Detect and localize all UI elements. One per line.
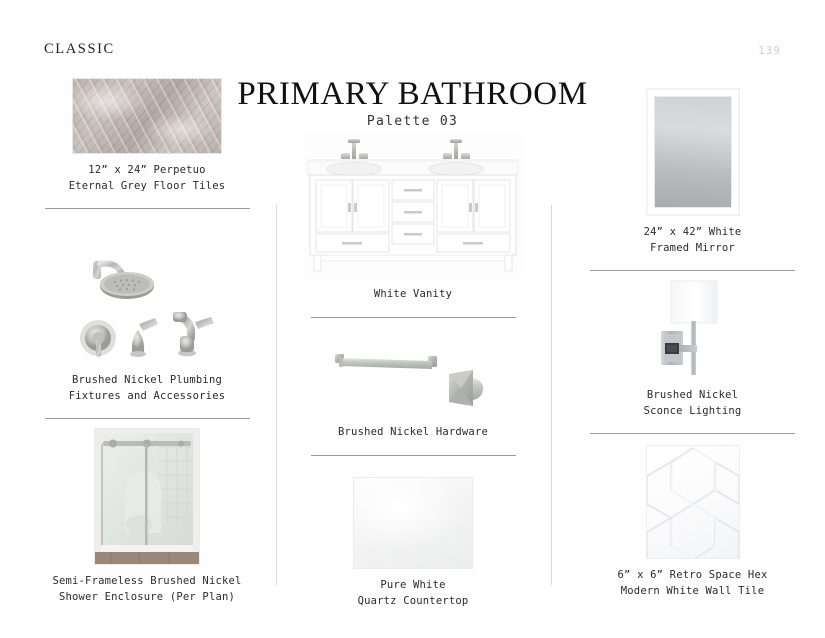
section-divider (311, 455, 516, 456)
hex-wall-tile-swatch (646, 445, 740, 559)
plumbing-fixtures-photo (67, 252, 227, 364)
shower-enclosure-photo (94, 428, 200, 565)
section-divider (45, 208, 250, 209)
brand-label: CLASSIC (44, 41, 115, 58)
page-number: 139 (758, 44, 781, 57)
product-plumbing-fixtures: Brushed Nickel Plumbing Fixtures and Acc… (22, 252, 272, 419)
section-divider (590, 270, 795, 271)
hex-pattern (647, 446, 739, 558)
hardware-illustration (327, 344, 499, 416)
product-floor-tile: 12” x 24” Perpetuo Eternal Grey Floor Ti… (22, 78, 272, 209)
product-shower-enclosure: Semi-Frameless Brushed Nickel Shower Enc… (22, 428, 272, 605)
product-framed-mirror: 24” x 42” White Framed Mirror (565, 88, 820, 271)
product-caption: 24” x 42” White Framed Mirror (565, 225, 820, 256)
column-divider-right (551, 205, 552, 585)
product-caption: Semi-Frameless Brushed Nickel Shower Enc… (22, 574, 272, 605)
product-caption: Brushed Nickel Plumbing Fixtures and Acc… (22, 373, 272, 404)
white-vanity-photo (304, 133, 522, 278)
sconce-illustration (647, 275, 739, 379)
column-divider-left (276, 205, 277, 585)
sconce-lighting-photo (647, 275, 739, 379)
product-caption: Brushed Nickel Sconce Lighting (565, 388, 820, 419)
section-divider (590, 433, 795, 434)
section-divider (45, 418, 250, 419)
product-caption: Pure White Quartz Countertop (288, 578, 538, 609)
product-caption: White Vanity (288, 287, 538, 303)
white-vanity-illustration (304, 133, 522, 278)
product-sconce-lighting: Brushed Nickel Sconce Lighting (565, 275, 820, 434)
product-caption: 6” x 6” Retro Space Hex Modern White Wal… (565, 568, 820, 599)
product-caption: 12” x 24” Perpetuo Eternal Grey Floor Ti… (22, 163, 272, 194)
design-board: CLASSIC 139 PRIMARY BATHROOM Palette 03 … (0, 0, 825, 638)
shower-enclosure-illustration (95, 429, 199, 564)
framed-mirror-photo (646, 88, 740, 216)
brushed-nickel-hardware-photo (327, 344, 499, 416)
product-white-vanity: White Vanity (288, 133, 538, 318)
product-quartz-countertop: Pure White Quartz Countertop (288, 477, 538, 609)
floor-tile-swatch (72, 78, 222, 154)
product-hex-wall-tile: 6” x 6” Retro Space Hex Modern White Wal… (565, 445, 820, 599)
product-caption: Brushed Nickel Hardware (288, 425, 538, 441)
product-hardware: Brushed Nickel Hardware (288, 344, 538, 456)
quartz-countertop-swatch (353, 477, 473, 569)
section-divider (311, 317, 516, 318)
plumbing-fixtures-illustration (67, 252, 227, 364)
mirror-glass (654, 96, 732, 208)
